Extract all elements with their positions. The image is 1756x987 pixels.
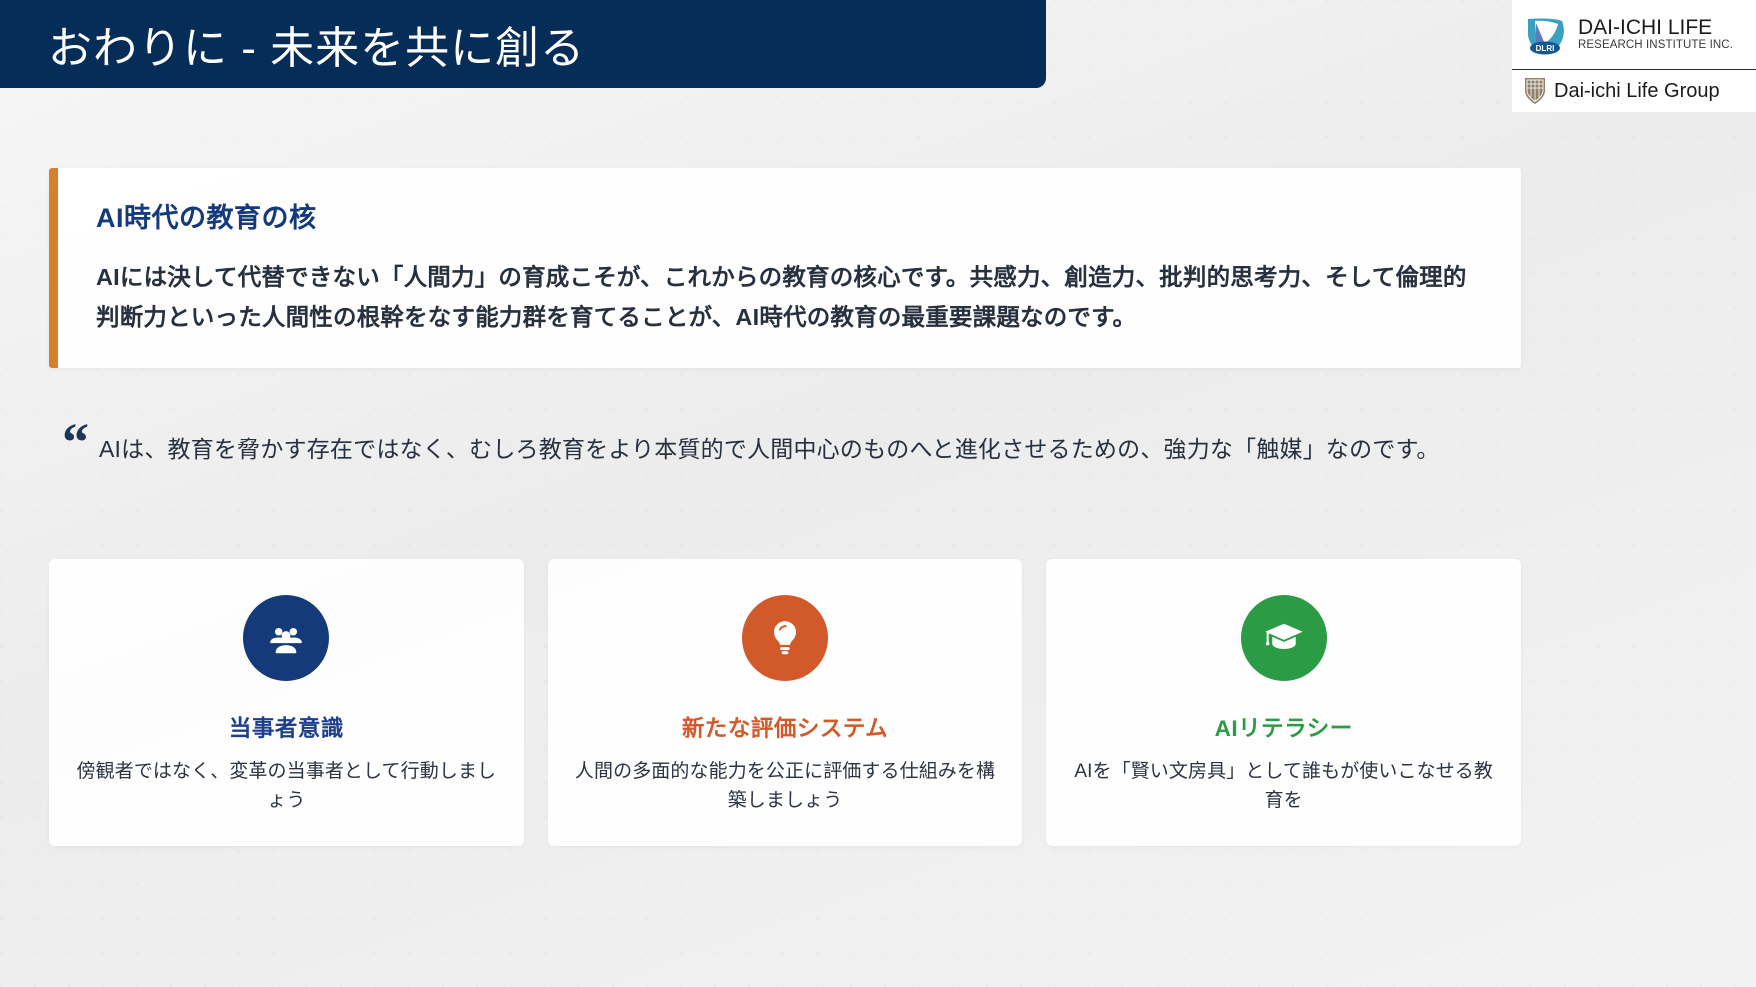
quote-mark-icon: “ [62, 422, 89, 463]
page-title: おわりに - 未来を共に創る [48, 12, 585, 76]
people-group-icon [243, 595, 329, 681]
feature-card-description: 人間の多面的な能力を公正に評価する仕組みを構築しましょう [574, 757, 997, 816]
quote-block: “ AIは、教育を脅かす存在ではなく、むしろ教育をより本質的で人間中心のものへと… [62, 418, 1522, 468]
quote-text: AIは、教育を脅かす存在ではなく、むしろ教育をより本質的で人間中心のものへと進化… [99, 418, 1440, 468]
feature-card-ai-literacy[interactable]: AIリテラシー AIを「賢い文房具」として誰もが使いこなせる教育を [1046, 559, 1521, 846]
highlight-card: AI時代の教育の核 AIには決して代替できない「人間力」の育成こそが、これからの… [49, 168, 1521, 368]
feature-card-description: AIを「賢い文房具」として誰もが使いこなせる教育を [1072, 757, 1495, 816]
feature-card-title: 新たな評価システム [682, 711, 888, 743]
feature-cards-row: 当事者意識 傍観者ではなく、変革の当事者として行動しましょう 新たな評価システム… [49, 559, 1521, 846]
dai-ichi-life-group-logo: Dai-ichi Life Group [1512, 70, 1756, 112]
brand-logo-block: DLRI DAI-ICHI LIFE RESEARCH INSTITUTE IN… [1512, 0, 1756, 112]
feature-card-description: 傍観者ではなく、変革の当事者として行動しましょう [75, 757, 498, 816]
feature-card-evaluation[interactable]: 新たな評価システム 人間の多面的な能力を公正に評価する仕組みを構築しましょう [548, 559, 1023, 846]
lightbulb-icon [742, 595, 828, 681]
feature-card-title: 当事者意識 [229, 711, 344, 743]
highlight-card-title: AI時代の教育の核 [96, 196, 1481, 235]
feature-card-ownership[interactable]: 当事者意識 傍観者ではなく、変革の当事者として行動しましょう [49, 559, 524, 846]
shield-icon [1524, 77, 1546, 105]
dlri-logo: DLRI DAI-ICHI LIFE RESEARCH INSTITUTE IN… [1512, 0, 1756, 70]
feature-card-title: AIリテラシー [1215, 711, 1353, 743]
dlri-mark-icon: DLRI [1522, 11, 1570, 59]
group-label: Dai-ichi Life Group [1554, 80, 1720, 103]
slide-canvas: おわりに - 未来を共に創る DLRI DAI-ICHI LIFE RESEAR… [0, 0, 1756, 987]
company-name: DAI-ICHI LIFE [1578, 17, 1733, 38]
graduation-cap-icon [1241, 595, 1327, 681]
company-subtitle: RESEARCH INSTITUTE INC. [1578, 40, 1733, 52]
dlri-logo-text: DAI-ICHI LIFE RESEARCH INSTITUTE INC. [1578, 17, 1733, 52]
header-bar: おわりに - 未来を共に創る [0, 0, 1046, 88]
svg-text:DLRI: DLRI [1536, 44, 1555, 53]
highlight-card-body: AIには決して代替できない「人間力」の育成こそが、これからの教育の核心です。共感… [96, 257, 1481, 338]
